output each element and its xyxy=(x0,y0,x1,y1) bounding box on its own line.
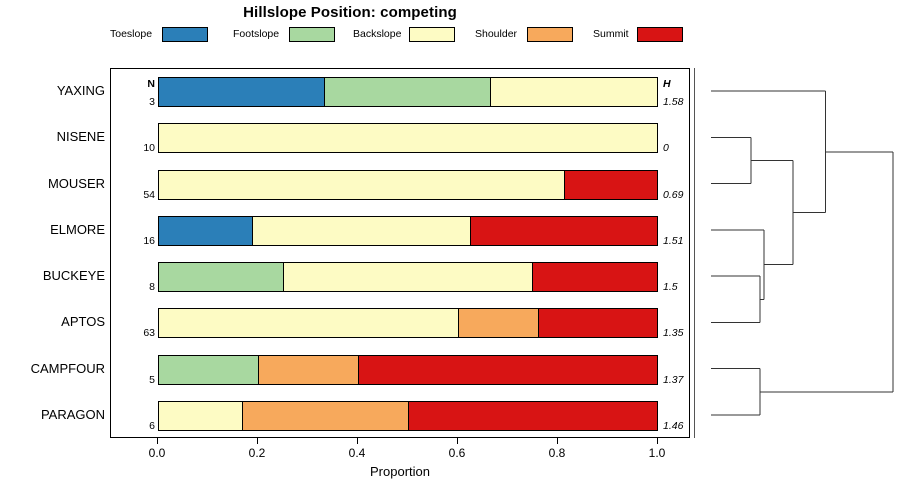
h-value: 0 xyxy=(663,142,697,154)
h-value: 1.37 xyxy=(663,374,697,386)
bar-segment-footslope[interactable] xyxy=(159,356,259,384)
n-value: 16 xyxy=(127,235,155,247)
h-value: 0.69 xyxy=(663,189,697,201)
chart-canvas: Hillslope Position: competing ToeslopeFo… xyxy=(0,0,900,500)
bar-segment-backslope[interactable] xyxy=(159,309,459,337)
category-label-nisene: NISENE xyxy=(57,130,105,144)
legend-swatch xyxy=(409,27,455,42)
h-value: 1.5 xyxy=(663,281,697,293)
n-value: 63 xyxy=(127,327,155,339)
x-tick-label: 0.6 xyxy=(449,446,466,460)
category-label-campfour: CAMPFOUR xyxy=(31,362,105,376)
legend-label: Shoulder xyxy=(475,28,517,41)
category-label-yaxing: YAXING xyxy=(57,84,105,98)
category-label-buckeye: BUCKEYE xyxy=(43,269,105,283)
legend-swatch xyxy=(637,27,683,42)
category-label-paragon: PARAGON xyxy=(41,408,105,422)
legend-label: Footslope xyxy=(233,28,279,41)
bar-segment-shoulder[interactable] xyxy=(259,356,359,384)
stacked-bar[interactable] xyxy=(158,355,658,385)
x-tick-label: 0.2 xyxy=(249,446,266,460)
x-tick-label: 0.4 xyxy=(349,446,366,460)
bar-segment-backslope[interactable] xyxy=(159,124,657,152)
bar-segment-summit[interactable] xyxy=(565,171,657,199)
stacked-bar[interactable] xyxy=(158,308,658,338)
n-value: 6 xyxy=(127,420,155,432)
bar-segment-summit[interactable] xyxy=(471,217,657,245)
legend-label: Backslope xyxy=(353,28,401,41)
stacked-bar[interactable] xyxy=(158,216,658,246)
legend-label: Summit xyxy=(593,28,629,41)
x-tick xyxy=(257,438,258,444)
x-tick-label: 0.0 xyxy=(149,446,166,460)
bar-segment-summit[interactable] xyxy=(533,263,657,291)
x-tick xyxy=(157,438,158,444)
n-value: 3 xyxy=(127,96,155,108)
stacked-bar[interactable] xyxy=(158,262,658,292)
n-value: 54 xyxy=(127,189,155,201)
bar-segment-backslope[interactable] xyxy=(253,217,471,245)
stacked-bar[interactable] xyxy=(158,170,658,200)
legend-swatch xyxy=(527,27,573,42)
n-column-header: N xyxy=(127,78,155,90)
stacked-bar[interactable] xyxy=(158,123,658,153)
bar-segment-toeslope[interactable] xyxy=(159,78,325,106)
dendrogram xyxy=(694,68,900,438)
n-value: 10 xyxy=(127,142,155,154)
legend: ToeslopeFootslopeBackslopeShoulderSummit xyxy=(110,27,690,43)
x-tick xyxy=(457,438,458,444)
x-axis-title: Proportion xyxy=(110,464,690,479)
category-label-elmore: ELMORE xyxy=(50,223,105,237)
chart-title: Hillslope Position: competing xyxy=(0,4,700,21)
x-tick-label: 0.8 xyxy=(549,446,566,460)
bar-segment-footslope[interactable] xyxy=(325,78,491,106)
h-value: 1.46 xyxy=(663,420,697,432)
h-column-header: H xyxy=(663,78,697,90)
bar-segment-footslope[interactable] xyxy=(159,263,284,291)
x-tick xyxy=(657,438,658,444)
n-value: 8 xyxy=(127,281,155,293)
x-tick-label: 1.0 xyxy=(649,446,666,460)
bar-segment-backslope[interactable] xyxy=(284,263,533,291)
category-label-mouser: MOUSER xyxy=(48,177,105,191)
stacked-bar[interactable] xyxy=(158,401,658,431)
n-value: 5 xyxy=(127,374,155,386)
bar-segment-summit[interactable] xyxy=(409,402,657,430)
category-axis-labels: YAXINGNISENEMOUSERELMOREBUCKEYEAPTOSCAMP… xyxy=(0,68,105,438)
h-value: 1.58 xyxy=(663,96,697,108)
stacked-bar[interactable] xyxy=(158,77,658,107)
stacked-bars-group: 31.58100540.69161.5181.5631.3551.3761.46 xyxy=(111,69,691,439)
legend-label: Toeslope xyxy=(110,28,152,41)
legend-swatch xyxy=(162,27,208,42)
bar-segment-backslope[interactable] xyxy=(491,78,657,106)
bar-segment-shoulder[interactable] xyxy=(459,309,539,337)
h-value: 1.51 xyxy=(663,235,697,247)
legend-swatch xyxy=(289,27,335,42)
bar-segment-backslope[interactable] xyxy=(159,171,565,199)
bar-segment-shoulder[interactable] xyxy=(243,402,409,430)
bar-segment-summit[interactable] xyxy=(359,356,657,384)
x-tick xyxy=(357,438,358,444)
h-value: 1.35 xyxy=(663,327,697,339)
plot-area: 31.58100540.69161.5181.5631.3551.3761.46… xyxy=(110,68,690,438)
x-tick xyxy=(557,438,558,444)
bar-segment-backslope[interactable] xyxy=(159,402,243,430)
category-label-aptos: APTOS xyxy=(61,315,105,329)
bar-segment-toeslope[interactable] xyxy=(159,217,253,245)
bar-segment-summit[interactable] xyxy=(539,309,657,337)
